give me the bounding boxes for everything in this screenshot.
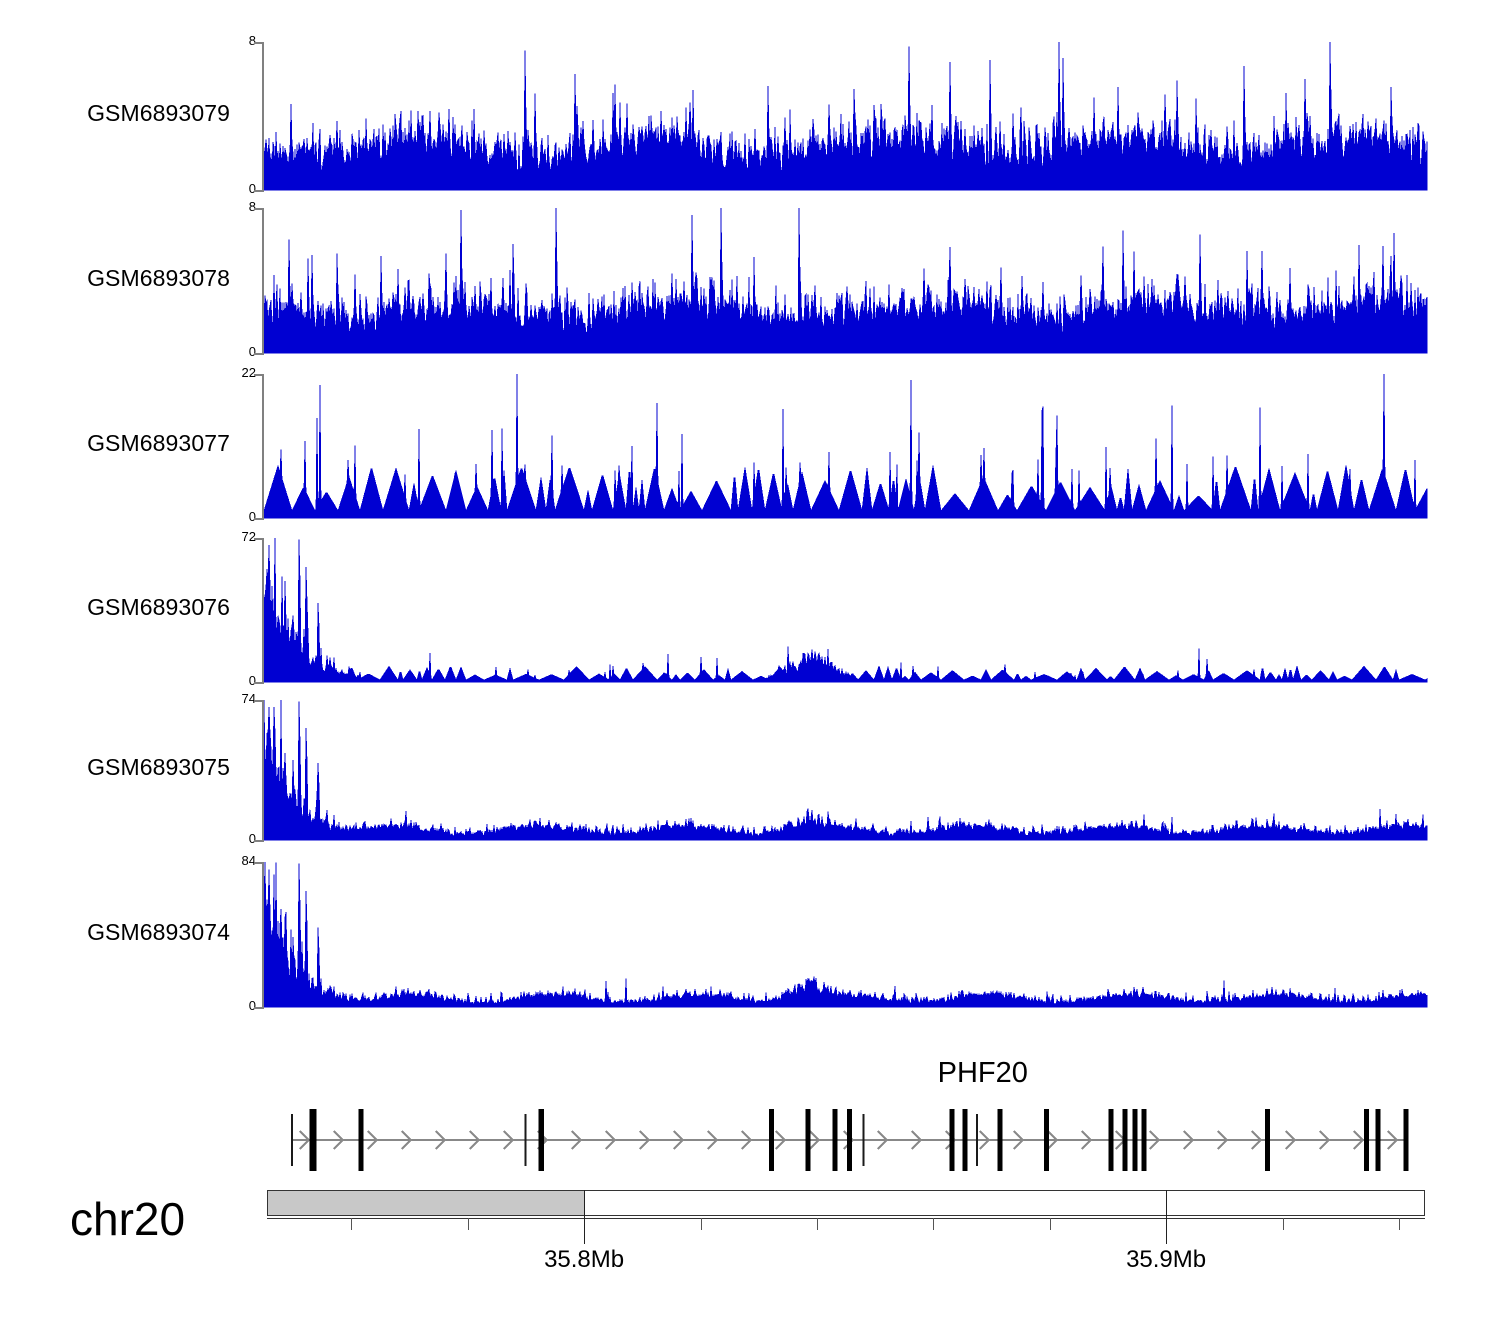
signal-plot-area[interactable] [264,538,1428,684]
ruler-tick-major [1166,1218,1167,1244]
signal-track-gsm6893079[interactable]: GSM689307980 [0,42,1500,194]
signal-plot-area[interactable] [264,208,1428,355]
axis-max-label: 8 [228,33,256,48]
gene-model-graphic [264,1095,1428,1175]
axis-max-label: 74 [228,691,256,706]
ruler-tick-riser [1166,1190,1167,1218]
chromosome-label: chr20 [70,1192,185,1246]
signal-plot-area[interactable] [264,374,1428,520]
axis-tick-bottom [254,518,264,520]
gene-name-label: PHF20 [938,1057,1028,1090]
signal-plot-area[interactable] [264,42,1428,192]
axis-max-label: 8 [228,199,256,214]
signal-track-gsm6893078[interactable]: GSM689307880 [0,208,1500,357]
ruler-tick-minor [351,1218,352,1230]
axis-tick-top [254,374,264,376]
axis-tick-bottom [254,1007,264,1009]
signal-track-gsm6893077[interactable]: GSM6893077220 [0,374,1500,522]
axis-tick-bottom [254,353,264,355]
track-label: GSM6893076 [0,594,230,621]
axis-max-label: 22 [228,365,256,380]
ruler-tick-minor [1050,1218,1051,1230]
track-label: GSM6893074 [0,919,230,946]
ruler-tick-minor [933,1218,934,1230]
axis-min-label: 0 [228,509,256,524]
axis-max-label: 72 [228,529,256,544]
axis-min-label: 0 [228,998,256,1013]
ruler-tick-riser [584,1190,585,1218]
axis-tick-top [254,862,264,864]
axis-tick-top [254,42,264,44]
ideogram-bar[interactable] [267,1190,1425,1216]
axis-tick-bottom [254,840,264,842]
axis-tick-bottom [254,190,264,192]
signal-track-gsm6893076[interactable]: GSM6893076720 [0,538,1500,686]
axis-tick-bottom [254,682,264,684]
axis-max-label: 84 [228,853,256,868]
axis-min-label: 0 [228,831,256,846]
ruler-tick-minor [1283,1218,1284,1230]
ruler-tick-minor [468,1218,469,1230]
signal-track-gsm6893075[interactable]: GSM6893075740 [0,700,1500,844]
signal-plot-area[interactable] [264,862,1428,1009]
ruler-tick-minor [817,1218,818,1230]
axis-tick-top [254,700,264,702]
gene-annotation-track[interactable]: PHF20 [264,1095,1428,1175]
axis-min-label: 0 [228,181,256,196]
ruler-tick-minor [701,1218,702,1230]
signal-track-gsm6893074[interactable]: GSM6893074840 [0,862,1500,1011]
axis-min-label: 0 [228,344,256,359]
axis-min-label: 0 [228,673,256,688]
track-label: GSM6893075 [0,754,230,781]
ruler-baseline [267,1218,1425,1219]
genome-browser-view: GSM689307980GSM689307880GSM6893077220GSM… [0,0,1500,1320]
track-label: GSM6893077 [0,430,230,457]
ruler-position-label: 35.8Mb [544,1246,624,1274]
axis-tick-top [254,208,264,210]
signal-plot-area[interactable] [264,700,1428,842]
ruler-tick-minor [1399,1218,1400,1230]
ruler-position-label: 35.9Mb [1126,1246,1206,1274]
ideogram-band [268,1191,585,1215]
track-label: GSM6893078 [0,265,230,292]
track-label: GSM6893079 [0,100,230,127]
axis-tick-top [254,538,264,540]
ruler-tick-major [584,1218,585,1244]
